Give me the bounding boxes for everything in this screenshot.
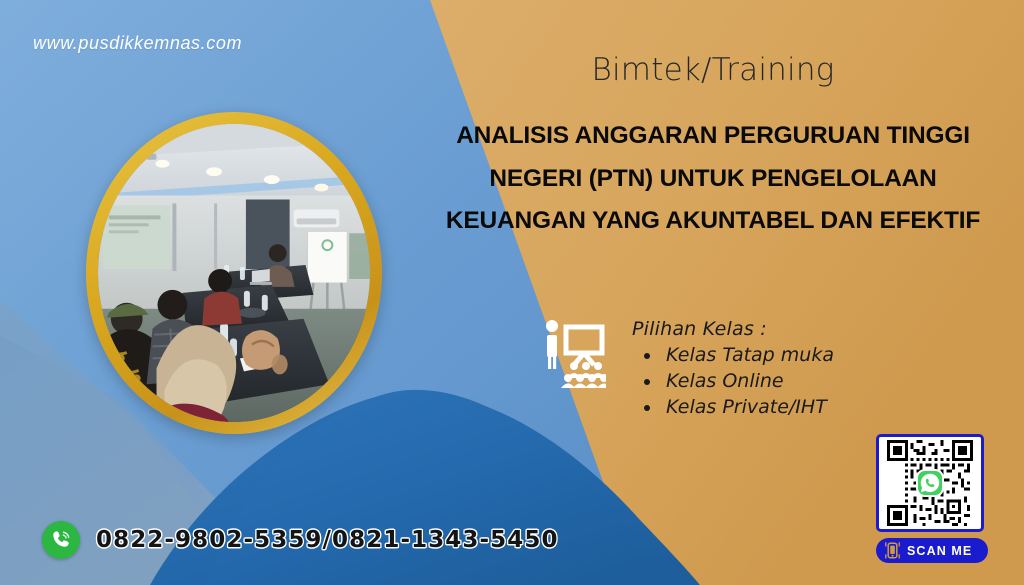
- qr-block[interactable]: SCAN ME: [876, 434, 988, 563]
- class-option-item: Kelas Online: [662, 368, 834, 394]
- photo-illustration: [98, 124, 370, 422]
- title-line-2: NEGERI (PTN) UNTUK PENGELOLAAN: [420, 158, 1006, 200]
- contact-block[interactable]: 0822-9802-5359/0821-1343-5450: [42, 521, 559, 559]
- whatsapp-glyph: [918, 471, 942, 495]
- photo-gold-ring: [86, 112, 382, 434]
- headline-block: Bimtek/Training ANALISIS ANGGARAN PERGUR…: [420, 52, 1006, 242]
- phone-call-icon: [42, 521, 80, 559]
- poster-canvas: www.pusdikkemnas.com: [0, 0, 1024, 585]
- class-options-heading: Pilihan Kelas :: [632, 318, 834, 340]
- class-options-text: Pilihan Kelas : Kelas Tatap muka Kelas O…: [632, 318, 834, 421]
- phone-numbers: 0822-9802-5359/0821-1343-5450: [96, 527, 559, 553]
- training-presenter-audience-icon: [540, 318, 606, 388]
- class-option-item: Kelas Tatap muka: [662, 342, 834, 368]
- scan-me-label: SCAN ME: [907, 544, 972, 558]
- class-option-item: Kelas Private/IHT: [662, 394, 834, 420]
- title-line-1: ANALISIS ANGGARAN PERGURUAN TINGGI: [420, 115, 1006, 157]
- class-options-block: Pilihan Kelas : Kelas Tatap muka Kelas O…: [540, 318, 834, 421]
- qr-code[interactable]: [876, 434, 984, 532]
- phone-handset-glyph: [49, 528, 73, 552]
- website-url: www.pusdikkemnas.com: [33, 33, 242, 54]
- scan-me-button[interactable]: SCAN ME: [876, 538, 988, 563]
- title-line-3: KEUANGAN YANG AKUNTABEL DAN EFEKTIF: [420, 200, 1006, 242]
- page-title: ANALISIS ANGGARAN PERGURUAN TINGGI NEGER…: [420, 115, 1006, 242]
- whatsapp-icon: [918, 471, 942, 495]
- training-room-photo: [98, 124, 370, 422]
- class-options-list: Kelas Tatap muka Kelas Online Kelas Priv…: [632, 342, 834, 421]
- program-subtitle: Bimtek/Training: [420, 52, 1006, 89]
- scan-phone-icon: [885, 542, 900, 559]
